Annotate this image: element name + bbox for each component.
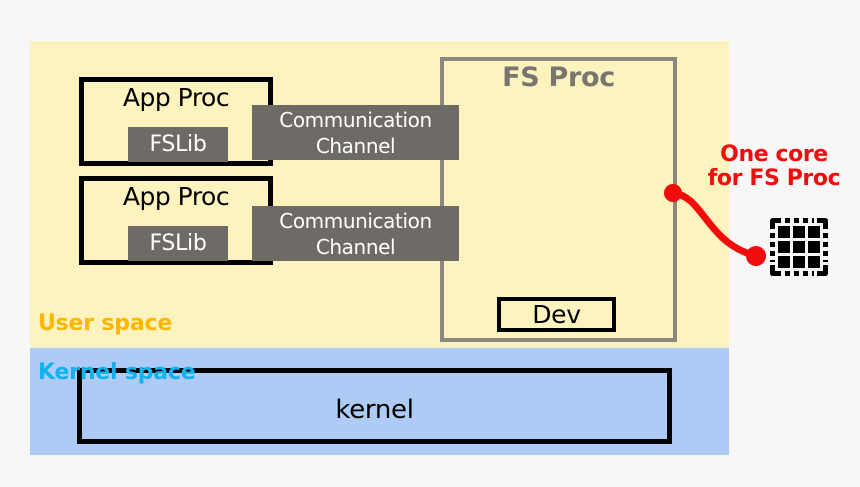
kernel-space-label: Kernel space [38, 360, 195, 385]
one-core-annotation: One core for FS Proc [692, 143, 856, 191]
one-core-annotation-line1: One core [692, 143, 856, 167]
app-proc-title-1: App Proc [84, 84, 268, 112]
communication-channel-2-line2: Channel [252, 234, 459, 260]
one-core-annotation-line2: for FS Proc [692, 167, 856, 191]
communication-channel-1-line1: Communication [252, 107, 459, 133]
communication-channel-1: Communication Channel [252, 105, 459, 160]
kernel-box-label: kernel [82, 395, 667, 425]
communication-channel-2-line1: Communication [252, 208, 459, 234]
fs-proc-title: FS Proc [440, 62, 677, 93]
core-connector-curve [655, 180, 815, 280]
communication-channel-2: Communication Channel [252, 206, 459, 261]
fslib-box-1: FSLib [128, 127, 228, 162]
dev-box: Dev [497, 297, 616, 332]
fslib-box-2: FSLib [128, 226, 228, 261]
communication-channel-1-line2: Channel [252, 133, 459, 159]
diagram-canvas: FS Proc Dev App Proc FSLib App Proc FSLi… [0, 0, 860, 487]
app-proc-title-2: App Proc [84, 183, 268, 211]
user-space-label: User space [38, 311, 172, 336]
